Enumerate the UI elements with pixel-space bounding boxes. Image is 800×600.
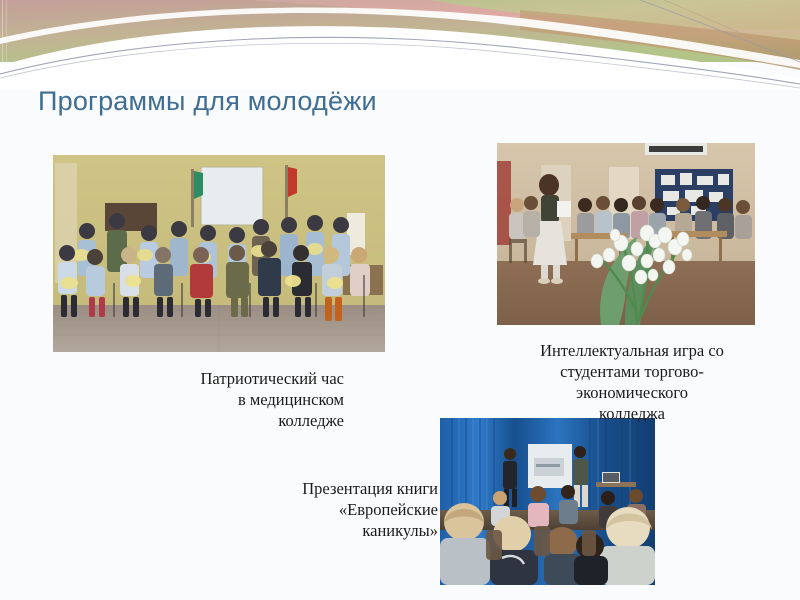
wave-banner-svg [0,0,800,90]
caption-line: Патриотический час [96,368,344,389]
presentation-slide: Программы для молодёжи [0,0,800,600]
photo-auditorium-book-presentation [440,418,655,585]
auditorium-photo-illustration [440,418,655,585]
wave-banner-decoration [0,0,800,90]
caption-photo-1: Патриотический час в медицинском колледж… [96,368,344,431]
caption-line: каникулы» [200,520,438,541]
photo-classroom-intellectual-game [497,143,755,325]
caption-line: в медицинском [96,389,344,410]
photo-group-medical-college [53,155,385,352]
caption-line: Презентация книги [200,478,438,499]
caption-line: экономического [496,382,768,403]
caption-line: Интеллектуальная игра со [496,340,768,361]
caption-line: «Европейские [200,499,438,520]
caption-line: студентами торгово- [496,361,768,382]
caption-line: колледже [96,410,344,431]
caption-line: колледжа [496,403,768,424]
group-photo-illustration [53,155,385,352]
caption-photo-2: Интеллектуальная игра со студентами торг… [496,340,768,424]
page-title: Программы для молодёжи [38,86,377,117]
caption-photo-3: Презентация книги «Европейские каникулы» [200,478,438,541]
classroom-photo-illustration [497,143,755,325]
